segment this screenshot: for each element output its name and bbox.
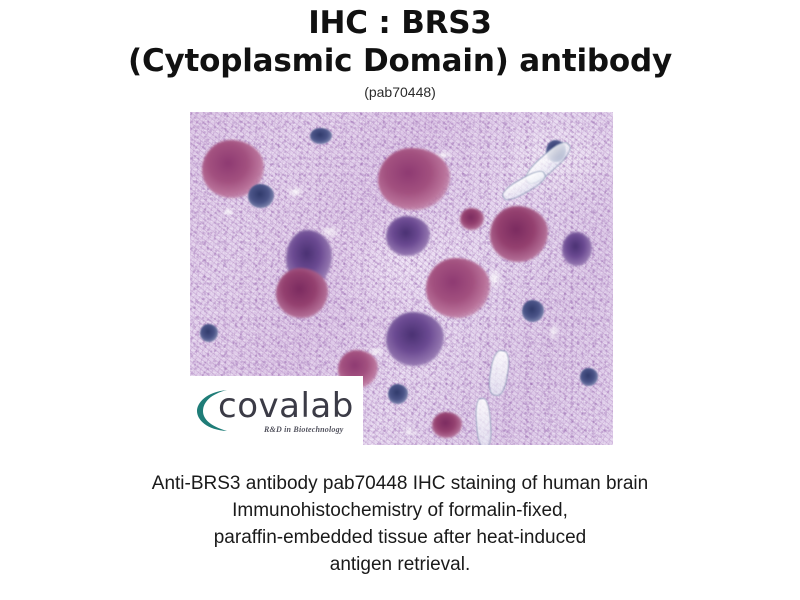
caption-line: paraffin-embedded tissue after heat-indu… [0, 524, 800, 551]
logo-inner: covalab R&D in Biotechnology [190, 380, 363, 445]
figure-title-line-1: IHC : BRS3 [0, 4, 800, 42]
caption-line: Anti-BRS3 antibody pab70448 IHC staining… [0, 470, 800, 497]
caption-line: Immunohistochemistry of formalin-fixed, [0, 497, 800, 524]
covalab-logo: covalab R&D in Biotechnology [190, 376, 363, 445]
caption-line: antigen retrieval. [0, 551, 800, 578]
logo-wordmark: covalab [218, 386, 354, 426]
catalog-number: (pab70448) [0, 83, 800, 101]
figure-title-line-2: (Cytoplasmic Domain) antibody [0, 42, 800, 80]
logo-tagline: R&D in Biotechnology [264, 425, 344, 434]
figure-title-block: IHC : BRS3 (Cytoplasmic Domain) antibody… [0, 4, 800, 101]
figure-caption: Anti-BRS3 antibody pab70448 IHC staining… [0, 470, 800, 578]
